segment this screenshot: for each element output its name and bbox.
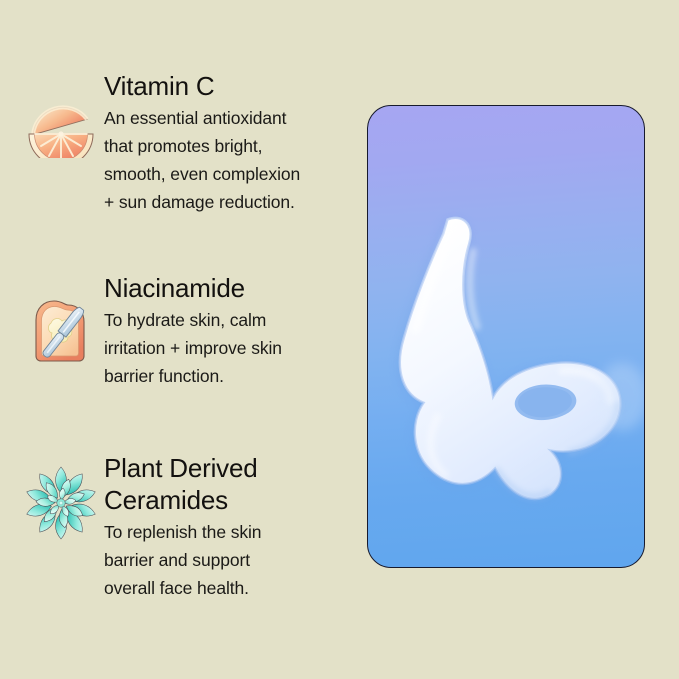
ingredient-title: Niacinamide — [104, 272, 282, 304]
ingredient-description: To hydrate skin, calm irritation + impro… — [104, 306, 282, 390]
ingredient-text-block: Niacinamide To hydrate skin, calm irrita… — [104, 272, 282, 390]
ingredient-item-plant-derived-ceramides: Plant Derived Ceramides To replenish the… — [18, 452, 261, 602]
ingredient-item-vitamin-c: Vitamin C An essential antioxidant that … — [18, 70, 300, 216]
ingredient-list: Vitamin C An essential antioxidant that … — [0, 0, 350, 679]
ingredient-text-block: Vitamin C An essential antioxidant that … — [104, 70, 300, 216]
product-texture-panel — [367, 105, 645, 568]
product-benefits-page: Vitamin C An essential antioxidant that … — [0, 0, 679, 679]
ingredient-description: To replenish the skin barrier and suppor… — [104, 518, 261, 602]
ingredient-text-block: Plant Derived Ceramides To replenish the… — [104, 452, 261, 602]
serum-swirl-graphic — [368, 106, 644, 567]
ingredient-item-niacinamide: Niacinamide To hydrate skin, calm irrita… — [18, 272, 282, 390]
buttered-toast-icon — [18, 272, 104, 368]
succulent-plant-icon — [18, 452, 104, 542]
ingredient-description: An essential antioxidant that promotes b… — [104, 104, 300, 216]
orange-slice-icon — [18, 70, 104, 158]
ingredient-title: Vitamin C — [104, 70, 300, 102]
ingredient-title: Plant Derived Ceramides — [104, 452, 261, 516]
